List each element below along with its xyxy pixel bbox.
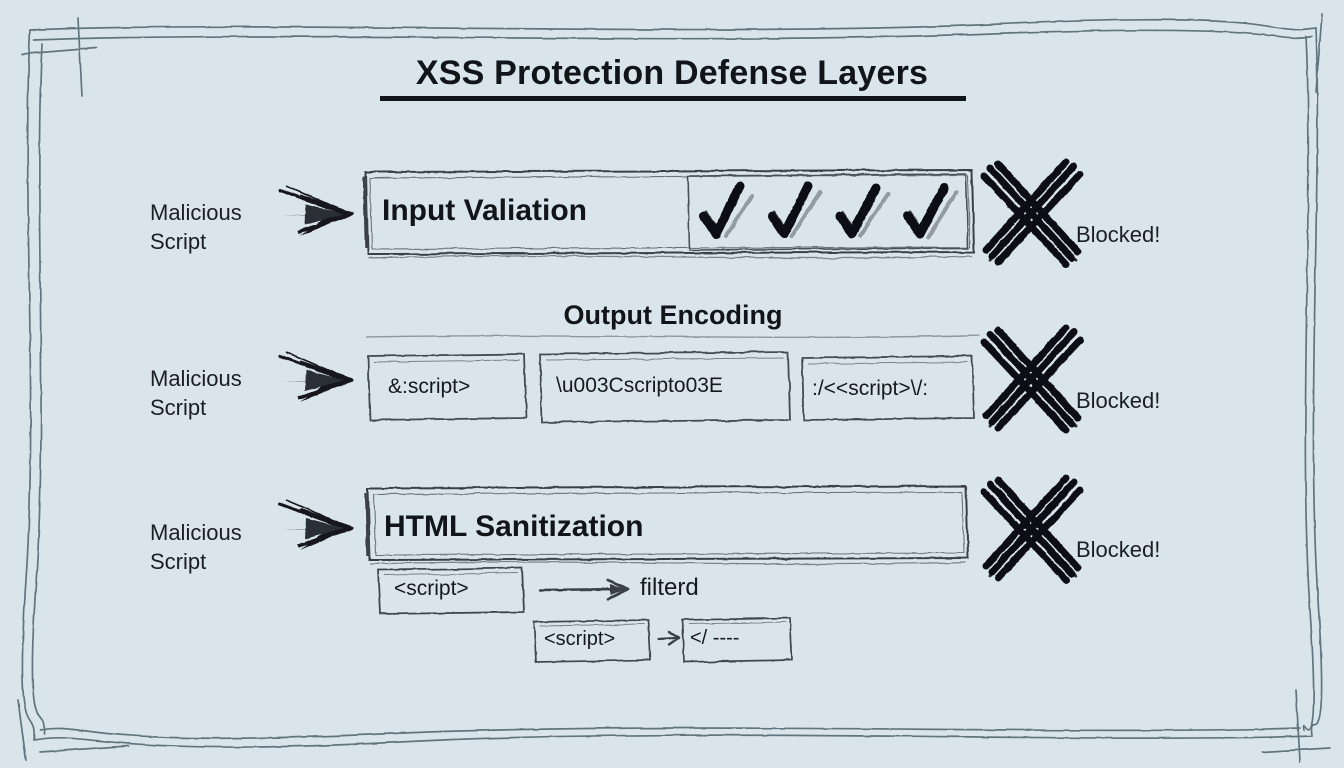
- validation-check-marks: [704, 184, 956, 238]
- page-title: XSS Protection Defense Layers: [0, 54, 1344, 93]
- stripped-result-chip: </ ----: [690, 627, 739, 650]
- arrow-to-output-encoding: [280, 352, 352, 402]
- filter-arrow-icon: [540, 580, 628, 599]
- input-validation-title: Input Valiation: [382, 194, 587, 228]
- encoding-chip-1: &:script>: [388, 375, 470, 399]
- html-sanitization-title: HTML Sanitization: [384, 510, 643, 544]
- malicious-script-label-row3: Malicious Script: [150, 518, 242, 577]
- malicious-script-label-row1: Malicious Script: [150, 198, 242, 257]
- sanitize-script-chip-b: <script>: [544, 628, 615, 651]
- blocked-x-icon-row3: [984, 478, 1080, 580]
- blocked-label-row1: Blocked!: [1076, 222, 1160, 248]
- title-underline: [380, 96, 966, 101]
- strip-arrow-icon: [658, 632, 679, 645]
- sanitize-script-chip-a: <script>: [394, 577, 469, 601]
- output-encoding-rule: [366, 335, 980, 337]
- output-encoding-heading: Output Encoding: [366, 300, 980, 331]
- blocked-x-icon-row1: [984, 162, 1080, 264]
- arrow-to-html-sanitization: [280, 500, 352, 550]
- filtered-label: filterd: [640, 574, 699, 602]
- arrow-to-input-validation: [280, 186, 352, 236]
- blocked-label-row3: Blocked!: [1076, 537, 1160, 563]
- malicious-script-label-row2: Malicious Script: [150, 364, 242, 423]
- diagram-canvas: XSS Protection Defense Layers Malicious …: [0, 0, 1344, 768]
- encoding-chip-2: \u003Cscripto03E: [556, 374, 723, 398]
- encoding-chip-3: :/<<script>\/:: [812, 377, 928, 401]
- blocked-label-row2: Blocked!: [1076, 388, 1160, 414]
- blocked-x-icon-row2: [984, 328, 1080, 430]
